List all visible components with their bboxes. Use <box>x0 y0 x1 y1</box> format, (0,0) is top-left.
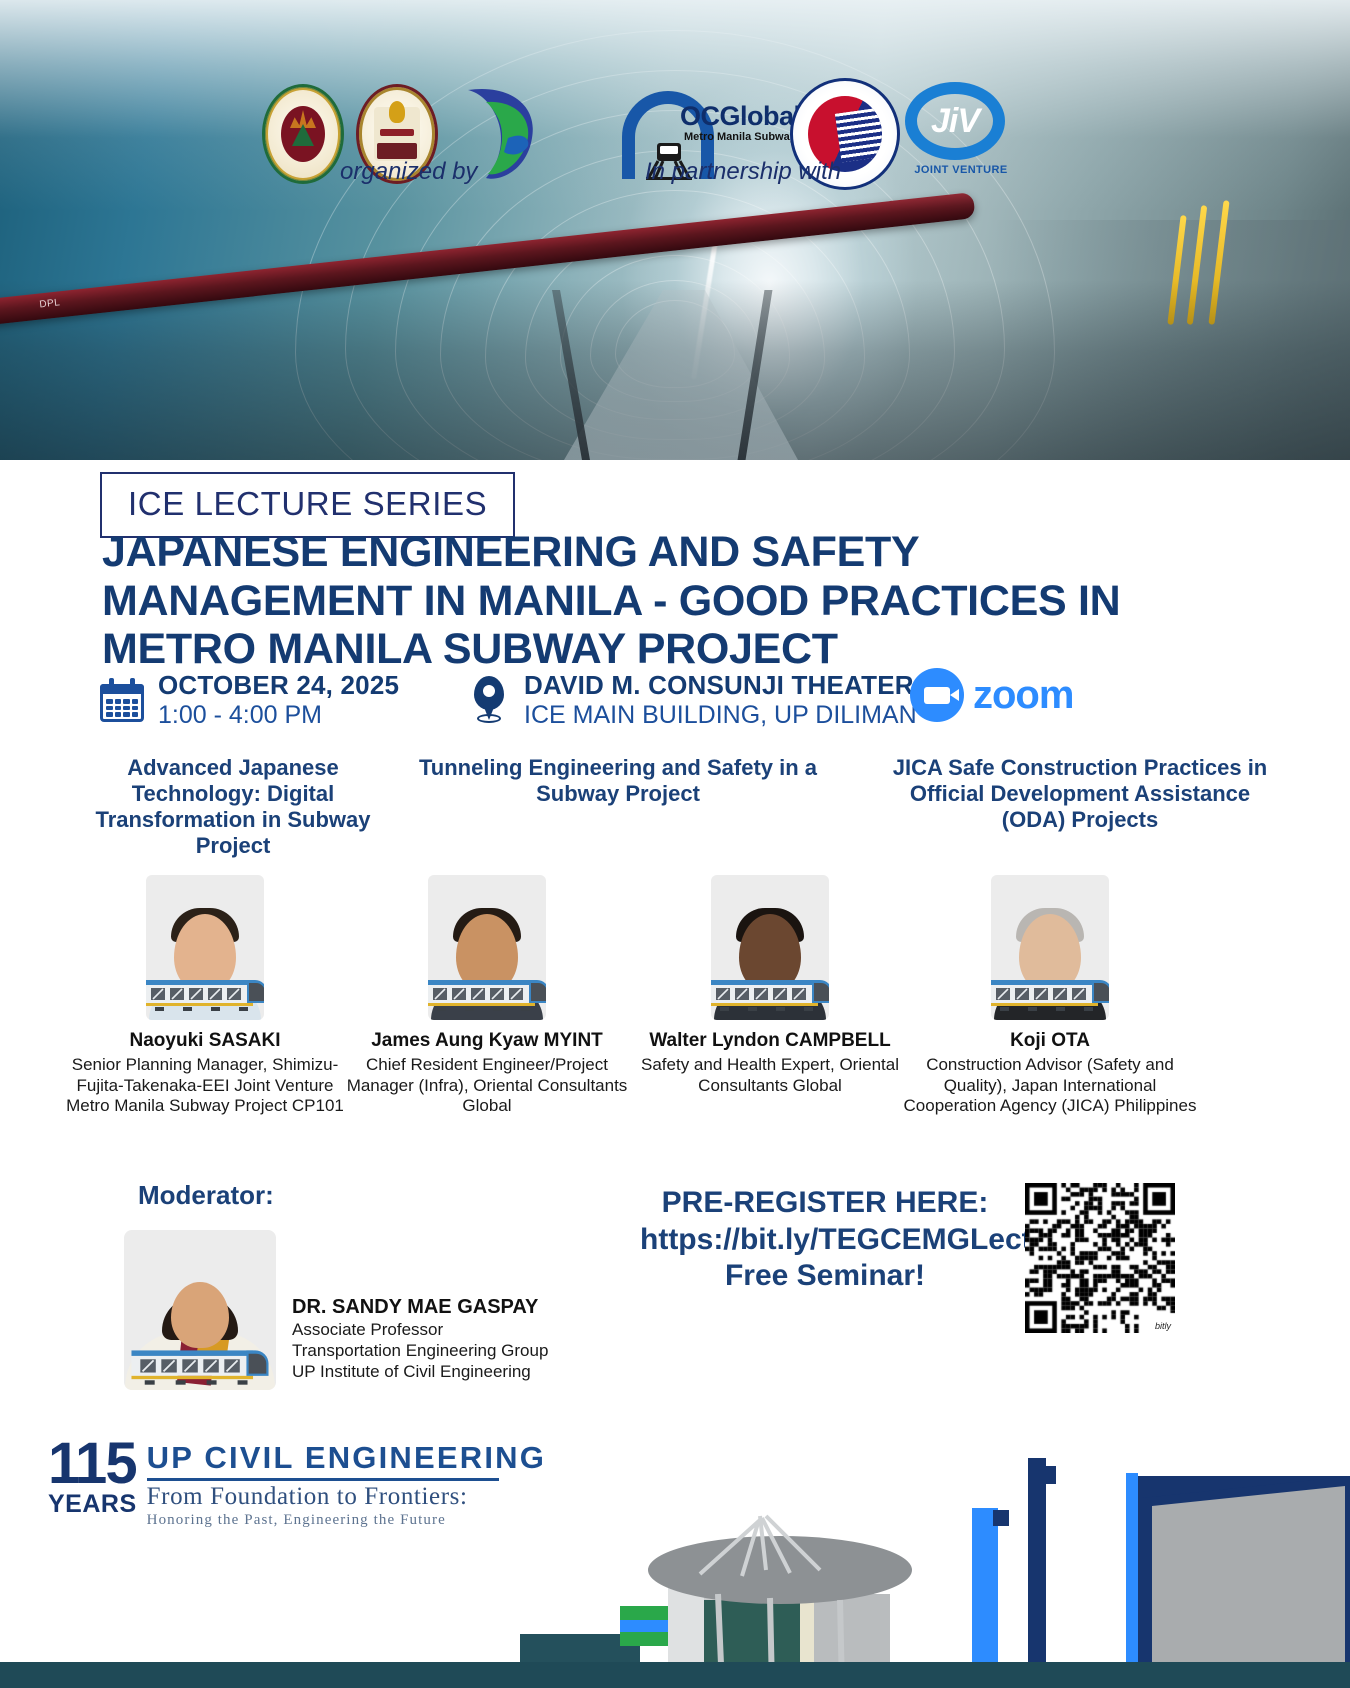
organized-by-label: organized by <box>340 158 477 186</box>
register-free-note: Free Seminar! <box>640 1258 1010 1295</box>
speaker-photo <box>146 875 264 1020</box>
speaker-role: Senior Planning Manager, Shimizu-Fujita-… <box>55 1055 355 1117</box>
hero-tunnel-photo: DPL OCGlobal-JV Metro Mani <box>0 0 1350 460</box>
speaker-role: Construction Advisor (Safety and Quality… <box>900 1055 1200 1117</box>
jiv-wordmark: JiV <box>931 102 979 141</box>
event-venue-block: DAVID M. CONSUNJI THEATER ICE MAIN BUILD… <box>470 670 917 730</box>
moderator-name: DR. SANDY MAE GASPAY <box>292 1296 548 1319</box>
speaker-name: Naoyuki SASAKI <box>55 1030 355 1053</box>
event-date-block: OCTOBER 24, 2025 1:00 - 4:00 PM <box>100 670 399 730</box>
topic-1: Advanced Japanese Technology: Digital Tr… <box>68 755 398 859</box>
topic-2: Tunneling Engineering and Safety in a Su… <box>408 755 828 859</box>
venue-address: ICE MAIN BUILDING, UP DILIMAN <box>524 701 917 730</box>
partnership-label: In partnership with <box>645 158 841 186</box>
speaker-name: Walter Lyndon CAMPBELL <box>620 1030 920 1053</box>
calendar-icon <box>100 678 144 722</box>
train-graphic-icon <box>991 976 1109 1014</box>
jiv-subline: JOINT VENTURE <box>907 164 1015 176</box>
speaker-card: James Aung Kyaw MYINT Chief Resident Eng… <box>337 875 637 1117</box>
zoom-wordmark: zoom <box>973 673 1073 718</box>
speaker-card: Walter Lyndon CAMPBELL Safety and Health… <box>620 875 920 1096</box>
zoom-camera-icon <box>910 668 964 722</box>
partner-logo-row: OCGlobal-JV Metro Manila Subway Project … <box>0 40 1350 150</box>
jiv-logo-icon: JiV JOINT VENTURE <box>905 82 1017 186</box>
topics-row: Advanced Japanese Technology: Digital Tr… <box>40 755 1320 859</box>
campus-illustration <box>0 1358 1350 1688</box>
event-time: 1:00 - 4:00 PM <box>158 701 399 730</box>
footer-bar <box>0 1662 1350 1688</box>
moderator-label: Moderator: <box>138 1180 274 1211</box>
train-graphic-icon <box>428 976 546 1014</box>
event-meta-row: OCTOBER 24, 2025 1:00 - 4:00 PM DAVID M.… <box>100 670 1250 740</box>
speaker-photo <box>991 875 1109 1020</box>
poster-root: DPL OCGlobal-JV Metro Mani <box>0 0 1350 1688</box>
up-seal-icon <box>262 84 344 184</box>
train-graphic-icon <box>711 976 829 1014</box>
speaker-name: James Aung Kyaw MYINT <box>337 1030 637 1053</box>
speaker-card: Koji OTA Construction Advisor (Safety an… <box>900 875 1200 1117</box>
poster-body: ICE LECTURE SERIES JAPANESE ENGINEERING … <box>0 460 1350 1688</box>
topic-3: JICA Safe Construction Practices in Offi… <box>880 755 1280 859</box>
speaker-name: Koji OTA <box>900 1030 1200 1053</box>
qr-brand-mark: bitly <box>1155 1321 1171 1331</box>
event-date: OCTOBER 24, 2025 <box>158 670 399 701</box>
register-heading: PRE-REGISTER HERE: <box>640 1185 1010 1222</box>
location-pin-icon <box>470 676 510 724</box>
moderator-line-1: Associate Professor <box>292 1319 548 1340</box>
register-url[interactable]: https://bit.ly/TEGCEMGLecture <box>640 1222 1010 1259</box>
speaker-photo <box>428 875 546 1020</box>
speaker-role: Chief Resident Engineer/Project Manager … <box>337 1055 637 1117</box>
venue-name: DAVID M. CONSUNJI THEATER <box>524 670 917 701</box>
page-title: JAPANESE ENGINEERING AND SAFETY MANAGEME… <box>102 528 1182 674</box>
speaker-photo <box>711 875 829 1020</box>
train-graphic-icon <box>146 976 264 1014</box>
registration-block: PRE-REGISTER HERE: https://bit.ly/TEGCEM… <box>640 1185 1010 1295</box>
speaker-card: Naoyuki SASAKI Senior Planning Manager, … <box>55 875 355 1117</box>
zoom-logo: zoom <box>910 668 1073 722</box>
qr-code[interactable]: bitly <box>1025 1183 1175 1333</box>
speaker-role: Safety and Health Expert, Oriental Consu… <box>620 1055 920 1096</box>
